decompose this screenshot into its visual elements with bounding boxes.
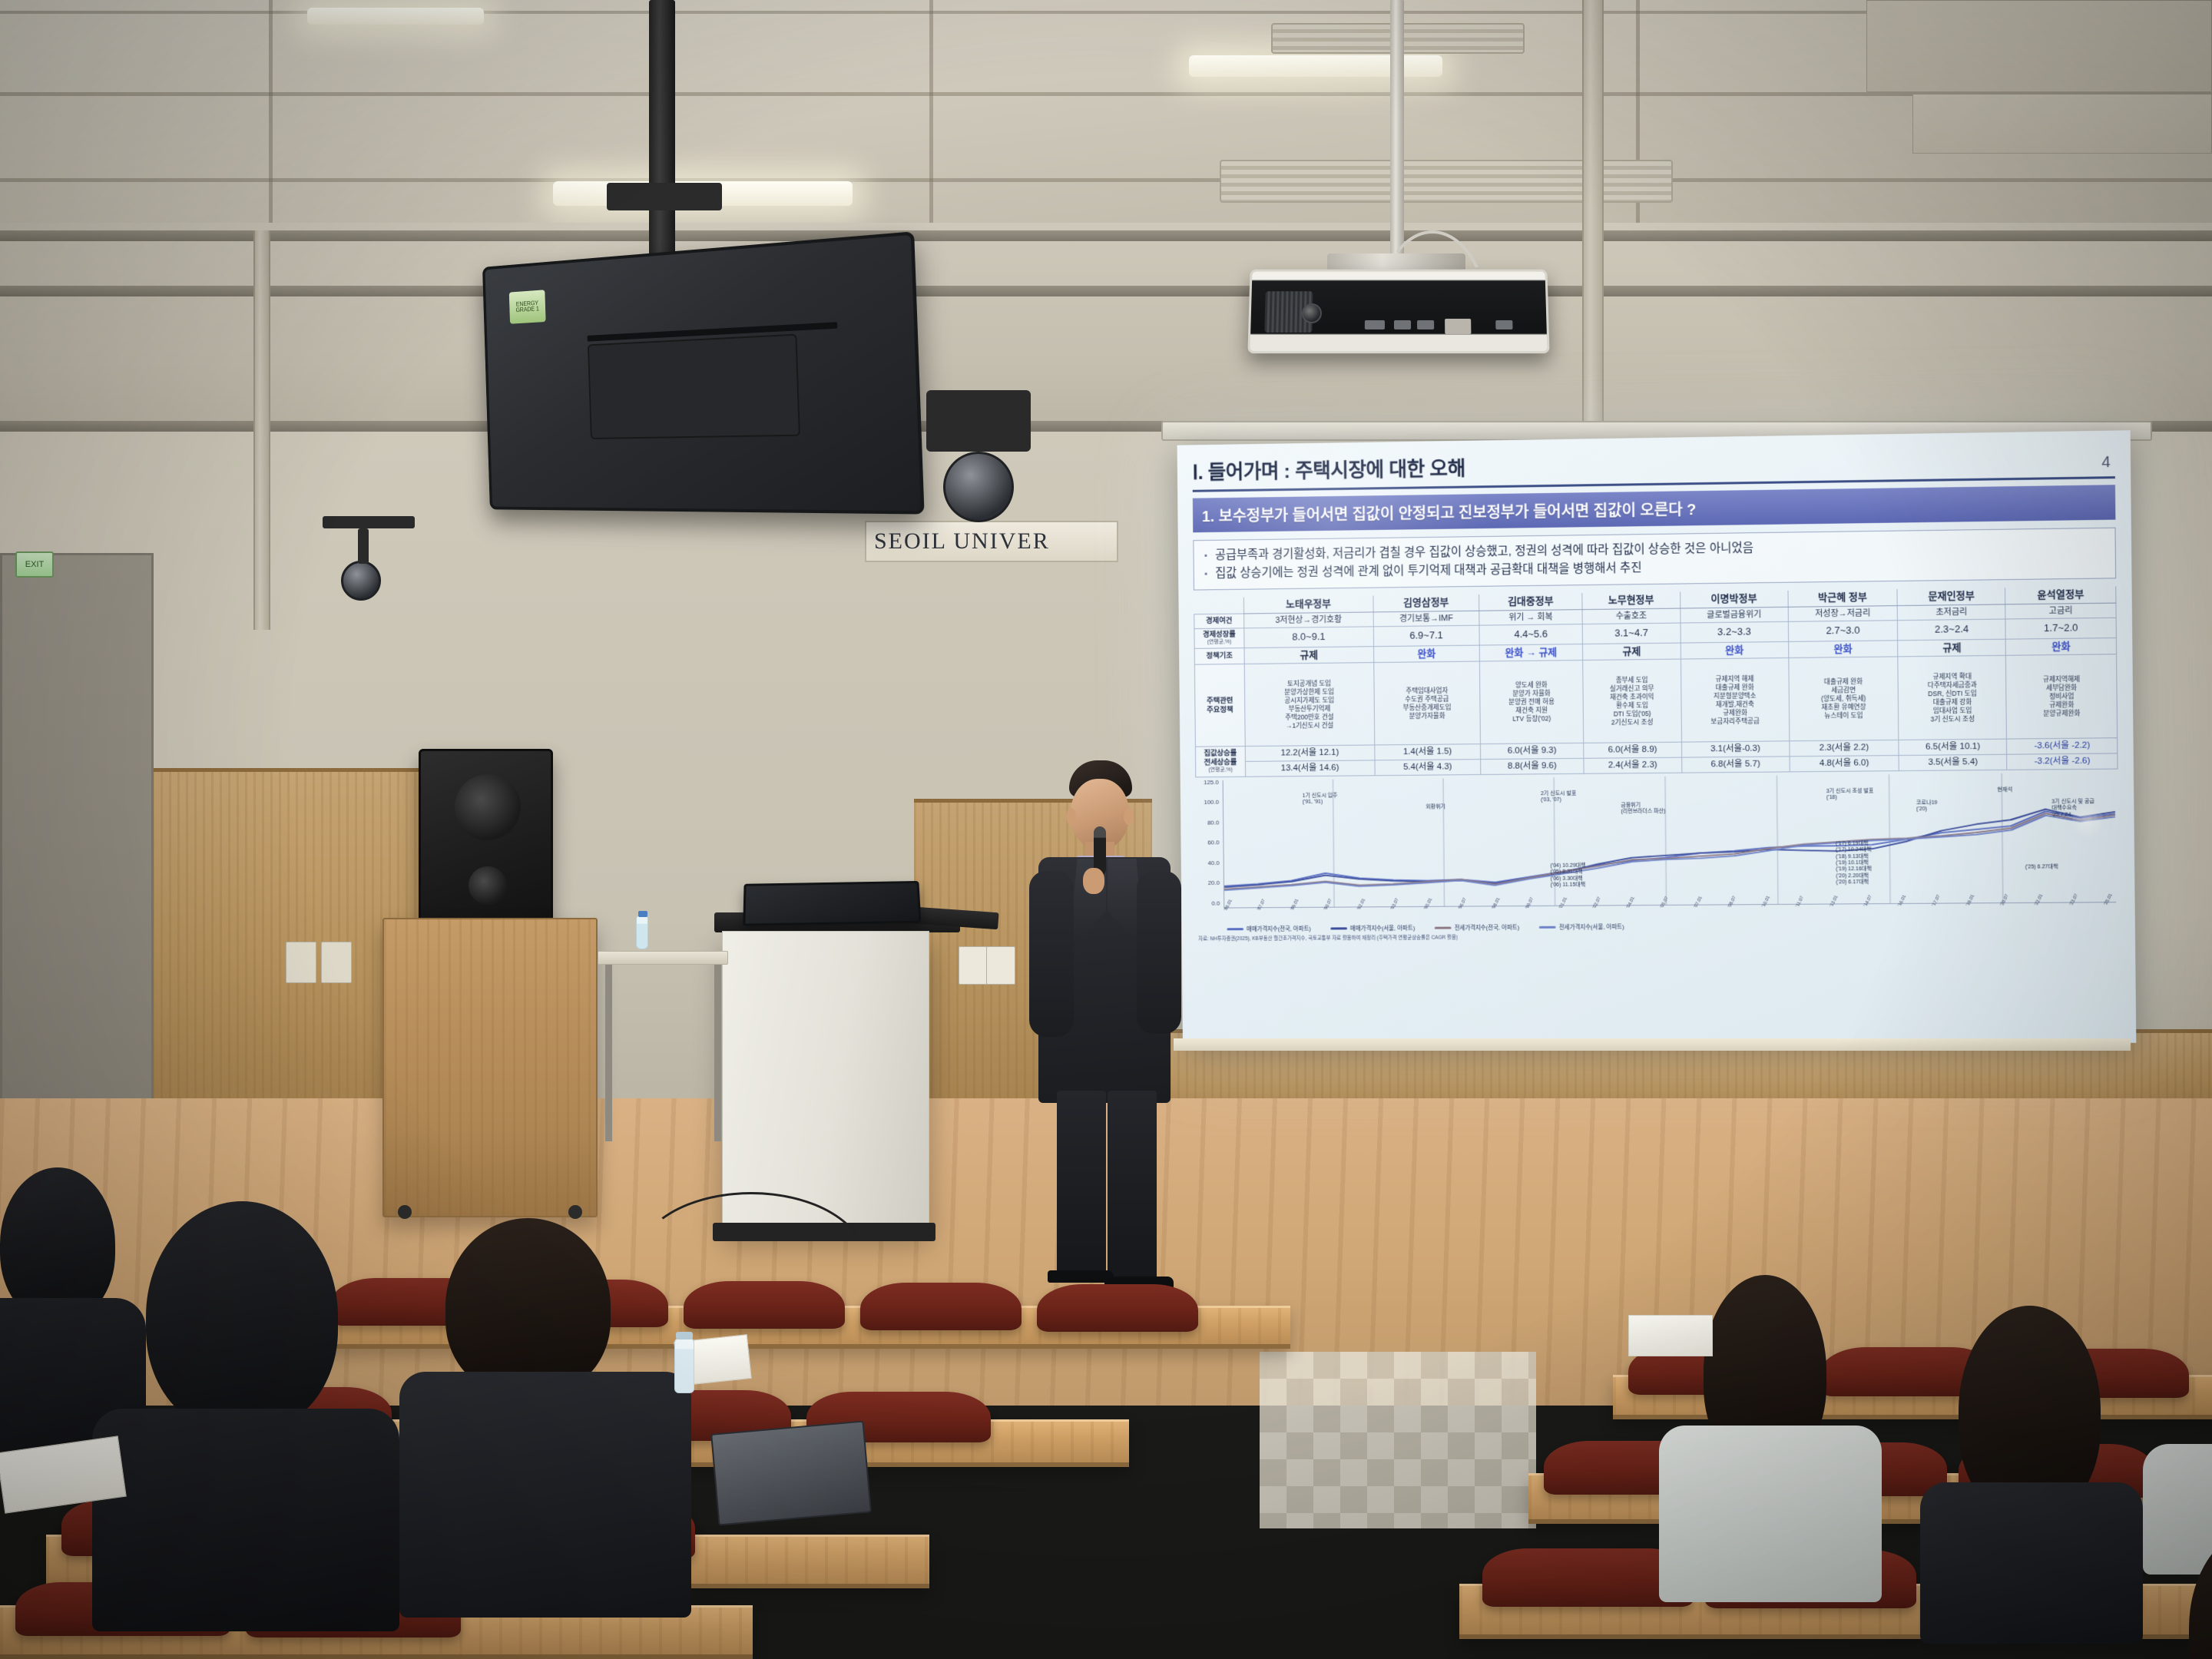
projector-port xyxy=(1495,320,1512,329)
bullet-marker-icon: ▪ xyxy=(1204,547,1207,563)
ceiling-grid-line xyxy=(0,92,2212,96)
chart-legend-item: 매매가격지수(전국, 아파트) xyxy=(1227,925,1310,934)
ceiling-grid-line xyxy=(0,178,2212,182)
dome-bracket xyxy=(926,390,1031,452)
chart-annotation: 금융위기(리먼브라더스 파산) xyxy=(1621,803,1665,816)
slide-bullet-box: ▪공급부족과 경기활성화, 저금리가 겹칠 경우 집값이 상승했고, 정권의 성… xyxy=(1193,528,2116,591)
table-cell: 완화 → 규제 xyxy=(1479,644,1582,661)
table-cell: 6.8(서울 5.7) xyxy=(1681,757,1790,773)
chair-back[interactable] xyxy=(860,1283,1022,1330)
table-cell: 주택임대사업자수도권 주택공급부동산중개제도입분양가자율화 xyxy=(1374,661,1481,745)
table-cell: 완화 xyxy=(1788,641,1898,658)
table-cell: 규제지역 확대다주택자세금중과DSR, 신DTI 도입대출규제 강화임대사업 도… xyxy=(1898,656,2007,740)
ac-vent xyxy=(1220,160,1673,203)
table-cell: 2.3~2.4 xyxy=(1898,619,2006,641)
wood-cabinet[interactable] xyxy=(382,918,598,1217)
table-cell: 8.8(서울 9.6) xyxy=(1481,759,1584,775)
chart-annotation: 2기 신도시 발표('03, '07) xyxy=(1541,791,1576,804)
chart-legend-item: 전세가격지수(전국, 아파트) xyxy=(1435,923,1519,932)
student-hair xyxy=(445,1218,611,1395)
table-cell: 6.0(서울 8.9) xyxy=(1584,743,1682,759)
cabinet-caster xyxy=(568,1205,582,1219)
chair-back[interactable] xyxy=(684,1281,845,1329)
table-row-label: 정책기조 xyxy=(1194,647,1244,664)
presenter-ear xyxy=(1066,808,1076,825)
table-row-label-sub: (연평균,%) xyxy=(1197,639,1242,647)
table-cell: 경기보통→IMF xyxy=(1373,611,1479,627)
wall-outlet[interactable] xyxy=(986,946,1015,985)
bullet-marker-icon: ▪ xyxy=(1204,565,1207,581)
table-cell: 저성장→저금리 xyxy=(1788,605,1898,621)
exit-sign: EXIT xyxy=(15,551,54,578)
ceiling-grid-line xyxy=(929,0,933,230)
projector-mount-pole xyxy=(1390,0,1404,270)
table-cell: 양도세 완화분양가 자율화분양권 전매 허용재건축 지원LTV 등장('02) xyxy=(1479,661,1583,744)
table-cell: 종부세 도입실거래신고 의무재건축 초과이익환수제 도입DTI 도입('05)2… xyxy=(1583,660,1682,743)
table-cell: 토지공개념 도입분양가상한제 도입공시지가제도 도입부동산투기억제주택200만호… xyxy=(1244,663,1374,747)
projector-lens-icon xyxy=(1302,303,1322,323)
table-cell: 글로벌금융위기 xyxy=(1681,607,1789,623)
chart-annotation: 3기 신도시 및 공급대책수요속'25.7.24 xyxy=(2051,799,2094,819)
table-cell: 4.8(서울 6.0) xyxy=(1790,756,1899,772)
table-cell: 규제 xyxy=(1583,643,1681,661)
table-cell: 6.9~7.1 xyxy=(1373,625,1479,647)
chart-legend-item: 매매가격지수(서울, 아파트) xyxy=(1330,924,1415,933)
table-cell: 3.1~4.7 xyxy=(1582,623,1681,644)
chart-legend-label: 전세가격지수(서울, 아파트) xyxy=(1559,922,1624,931)
projection-screen: Ⅰ. 들어가며 : 주택시장에 대한 오해 4 1. 보수정부가 들어서면 집값… xyxy=(1177,430,2137,1046)
student-jacket xyxy=(1920,1482,2143,1644)
slide-section-bar: 1. 보수정부가 들어서면 집값이 안정되고 진보정부가 들어서면 집값이 오른… xyxy=(1193,485,2116,532)
table-cell: 완화 xyxy=(2006,637,2117,655)
table-column-header: 윤석열정부 xyxy=(2005,586,2116,604)
chart-legend-swatch xyxy=(1539,926,1556,929)
table-corner-cell xyxy=(1194,598,1244,614)
lecture-hall-photo: EXIT SEOIL UNIVER ENERGY GRADE 1 xyxy=(0,0,2212,1659)
chart-legend-label: 매매가격지수(전국, 아파트) xyxy=(1247,925,1311,933)
chart-gridline xyxy=(1777,775,1778,903)
housing-price-index-chart: 125.0100.080.060.040.020.00.0 1기 신도시 입주(… xyxy=(1195,770,2119,940)
table-cell: 규제 xyxy=(1244,647,1374,664)
tv-vesa-plate xyxy=(588,334,800,439)
floor-tile-patch xyxy=(1260,1352,1536,1528)
chart-annotation: 1기 신도시 입주('91, '91) xyxy=(1303,793,1338,806)
pa-speaker xyxy=(419,749,553,937)
wall-trim-band xyxy=(0,230,2212,241)
table-row-label: 경제성장률(연평균,%) xyxy=(1194,628,1244,649)
table-cell: 완화 xyxy=(1373,645,1479,663)
table-cell: 3.1(서울-0.3) xyxy=(1681,741,1790,757)
table-cell: 4.4~5.6 xyxy=(1479,624,1583,645)
wall-trim-band xyxy=(0,286,2212,296)
table-cell: 1.7~2.0 xyxy=(2005,618,2116,639)
exit-sign-label: EXIT xyxy=(25,560,44,569)
table-cell: 2.7~3.0 xyxy=(1788,620,1898,641)
chart-policy-note-block: ('04) 10.29대책('05) 8.31대책('06) 3.30대책('0… xyxy=(1550,863,1585,889)
table-cell: 규제지역해제세부담완화정비사업규제완화분양규제완화 xyxy=(2006,654,2118,739)
table-cell: 고금리 xyxy=(2005,603,2116,619)
chart-series-line xyxy=(1224,810,2116,886)
table-cell: 1.4(서울 1.5) xyxy=(1375,744,1481,760)
lectern-monitor xyxy=(743,881,921,926)
slide-page-number: 4 xyxy=(2101,454,2115,472)
chair-back[interactable] xyxy=(1037,1284,1198,1332)
energy-rating-text: ENERGY GRADE 1 xyxy=(511,300,545,314)
table-cell: 완화 xyxy=(1681,641,1789,659)
slide-title: Ⅰ. 들어가며 : 주택시장에 대한 오해 xyxy=(1192,453,1465,485)
university-sign-label: SEOIL UNIVER xyxy=(874,528,1050,555)
water-tumbler[interactable] xyxy=(674,1338,694,1393)
tv-mount-bracket xyxy=(607,183,722,210)
ceiling-grid-line xyxy=(269,0,273,230)
table-leg xyxy=(605,965,612,1141)
table-cell: 3저현상→경기호황 xyxy=(1244,612,1374,628)
chart-legend-swatch xyxy=(1330,927,1347,929)
chart-policy-note-block: ('25) 6.27대책 xyxy=(2025,864,2058,871)
wall-pillar xyxy=(253,230,270,630)
screen-bottom-bar xyxy=(1174,1038,2131,1051)
table-cell: 대출규제 완화세금감면(양도세, 취득세)재초환 유예연장뉴스테이 도입 xyxy=(1789,657,1899,741)
presenter-ear xyxy=(1124,808,1134,825)
chart-legend-label: 매매가격지수(서울, 아파트) xyxy=(1350,924,1415,932)
tumbler-lid xyxy=(676,1332,693,1339)
wall-outlet[interactable] xyxy=(286,942,316,983)
chart-plot-area: 1기 신도시 입주('91, '91)외환위기2기 신도시 발표('03, '0… xyxy=(1223,773,2116,909)
student-jacket xyxy=(1659,1426,1882,1602)
table-cell: 3.5(서울 5.4) xyxy=(1899,754,2007,770)
table-cell: -3.6(서울 -2.2) xyxy=(2007,738,2118,754)
chart-gridline xyxy=(1665,777,1667,905)
chart-legend-swatch xyxy=(1435,926,1452,929)
chart-annotation: 외환위기 xyxy=(1426,804,1445,811)
table-row: 주택관련주요정책토지공개념 도입분양가상한제 도입공시지가제도 도입부동산투기억… xyxy=(1194,654,2117,747)
table-cell: 수출호조 xyxy=(1582,608,1681,624)
camera-arm xyxy=(358,528,369,564)
ceiling-light xyxy=(307,8,484,25)
presenter-arm-left xyxy=(1029,871,1074,1037)
chart-series-line xyxy=(1224,809,2116,887)
ceiling-panel xyxy=(1912,94,2212,154)
chart-policy-note-block: ('17) 6.19대책('17) 10.24대책('18) 9.13대책('1… xyxy=(1836,841,1872,886)
wall-outlet[interactable] xyxy=(959,946,988,985)
table-cell: -3.2(서울 -2.6) xyxy=(2007,753,2118,770)
table-cell: 초저금리 xyxy=(1897,604,2005,621)
table-cell: 규제지역 해제대출규제 완화지분형분양택소재개발,재건축규제완화보금자리주택공급 xyxy=(1681,658,1789,743)
side-table xyxy=(598,951,728,965)
chart-annotation: 코로나19('20) xyxy=(1916,800,1938,813)
table-cell: 6.5(서울 10.1) xyxy=(1899,740,2007,756)
table-column-header: 박근혜 정부 xyxy=(1788,589,1898,607)
student-jacket xyxy=(2143,1444,2212,1575)
table-cell: 5.4(서울 4.3) xyxy=(1375,760,1481,776)
wall-pillar xyxy=(1582,0,1604,492)
bottle-cap xyxy=(638,911,647,917)
chart-legend-label: 전세가격지수(전국, 아파트) xyxy=(1455,923,1520,932)
presenter xyxy=(1022,760,1221,1298)
chart-annotation: 3기 신도시 조성 발표('18) xyxy=(1826,788,1874,801)
presenter-arm-right xyxy=(1137,871,1181,1034)
university-sign: SEOIL UNIVER xyxy=(865,521,1118,562)
presenter-leg-right xyxy=(1108,1091,1157,1281)
handout-paper xyxy=(1628,1315,1713,1356)
table-row-label: 주택관련주요정책 xyxy=(1194,664,1245,747)
ceiling-mounted-tv: ENERGY GRADE 1 xyxy=(482,231,925,514)
slide-header: Ⅰ. 들어가며 : 주택시장에 대한 오해 4 xyxy=(1192,443,2115,492)
lectern[interactable] xyxy=(722,931,929,1230)
table-cell: 2.4(서울 2.3) xyxy=(1584,757,1682,773)
table-cell: 규제 xyxy=(1898,639,2006,657)
table-column-header: 김대중정부 xyxy=(1479,593,1582,611)
table-cell: 12.2(서울 12.1) xyxy=(1245,745,1375,761)
chart-legend-swatch xyxy=(1227,928,1243,930)
tablet-device[interactable] xyxy=(710,1421,872,1526)
table-cell: 6.0(서울 9.3) xyxy=(1480,743,1583,760)
table-leg xyxy=(714,965,721,1141)
table-column-header: 노무현정부 xyxy=(1582,592,1681,610)
chart-source-note: 자료: NH투자증권(2025), KB부동산 월간조가격지수, 국토교통부 자… xyxy=(1198,932,1458,942)
speaker-cone-icon xyxy=(469,866,507,905)
door-left[interactable] xyxy=(0,553,154,1137)
student-body xyxy=(92,1409,399,1631)
student-hood xyxy=(146,1201,338,1432)
table-cell: 위기 → 회복 xyxy=(1479,609,1582,625)
chart-annotation: 현재석 xyxy=(1997,787,2012,794)
table-row-label: 경제여건 xyxy=(1194,614,1244,629)
security-camera-icon xyxy=(341,561,381,601)
table-column-header: 노태우정부 xyxy=(1243,596,1373,614)
wall-outlet[interactable] xyxy=(321,942,352,983)
table-column-header: 이명박정부 xyxy=(1680,591,1788,608)
table-column-header: 문재인정부 xyxy=(1897,588,2005,605)
presenter-hand xyxy=(1083,868,1104,894)
camera-mount xyxy=(323,516,415,528)
chart-legend-item: 전세가격지수(서울, 아파트) xyxy=(1539,922,1624,932)
energy-rating-label: ENERGY GRADE 1 xyxy=(509,290,546,324)
table-column-header: 김영삼정부 xyxy=(1373,594,1479,612)
table-cell: 2.3(서울 2.2) xyxy=(1790,740,1899,757)
speaker-cone-icon xyxy=(455,774,521,840)
government-comparison-table: 노태우정부김영삼정부김대중정부노무현정부이명박정부박근혜 정부문재인정부윤석열정… xyxy=(1194,586,2118,777)
ceiling-dome-speaker-icon xyxy=(943,452,1014,522)
table-cell: 13.4(서울 14.6) xyxy=(1245,760,1375,777)
water-bottle[interactable] xyxy=(636,916,648,949)
presenter-leg-left xyxy=(1057,1091,1106,1275)
chart-lines xyxy=(1224,773,2116,908)
presentation-slide: Ⅰ. 들어가며 : 주택시장에 대한 오해 4 1. 보수정부가 들어서면 집값… xyxy=(1177,430,2137,1046)
cabinet-caster xyxy=(398,1205,412,1219)
student-jacket xyxy=(399,1372,691,1618)
ceiling-panel xyxy=(1866,0,2212,92)
ceiling-light xyxy=(1189,55,1442,77)
chart-gridline xyxy=(1443,778,1445,906)
table-cell: 8.0~9.1 xyxy=(1244,627,1374,648)
table-cell: 3.2~3.3 xyxy=(1681,621,1789,643)
